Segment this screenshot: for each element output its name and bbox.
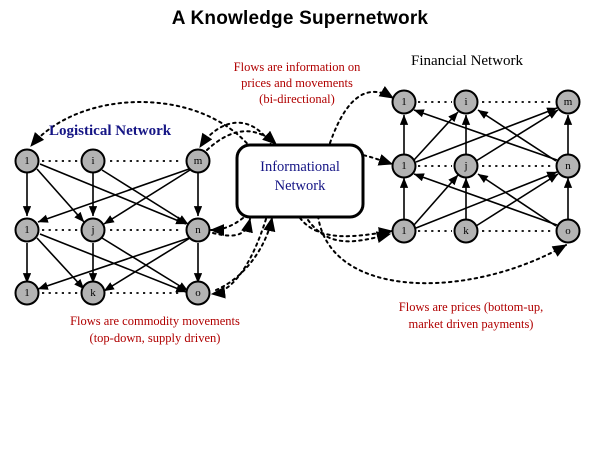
node-financial-2-1[interactable]: 1 xyxy=(393,155,416,178)
node-label: 1 xyxy=(24,155,30,167)
node-label: n xyxy=(565,160,571,172)
node-label: m xyxy=(564,96,573,108)
node-label: k xyxy=(463,225,469,237)
node-logistical-3-o[interactable]: o xyxy=(187,282,210,305)
financial-network-links xyxy=(404,108,568,228)
node-logistical-1-1[interactable]: 1 xyxy=(16,150,39,173)
financial-annotation-line2: market driven payments) xyxy=(360,317,582,332)
logistical-network-heading: Logistical Network xyxy=(49,123,171,140)
node-label: n xyxy=(195,224,201,236)
financial-ellipsis-row-links xyxy=(418,102,552,231)
informational-annotation-line1: Flows are information on xyxy=(215,60,379,75)
logistical-ellipsis-row-links xyxy=(42,161,182,293)
node-logistical-1-m[interactable]: m xyxy=(187,150,210,173)
node-label: i xyxy=(91,155,94,167)
node-logistical-2-n[interactable]: n xyxy=(187,219,210,242)
node-logistical-2-j[interactable]: j xyxy=(82,219,105,242)
node-financial-3-1[interactable]: 1 xyxy=(393,220,416,243)
node-label: 1 xyxy=(24,287,30,299)
node-financial-1-m[interactable]: m xyxy=(557,91,580,114)
node-financial-3-o[interactable]: o xyxy=(557,220,580,243)
informational-annotation-line2: prices and movements xyxy=(215,76,379,91)
node-logistical-3-k[interactable]: k xyxy=(82,282,105,305)
financial-network-heading: Financial Network xyxy=(411,53,523,70)
node-financial-3-k[interactable]: k xyxy=(455,220,478,243)
logistical-network-links xyxy=(27,164,198,292)
node-logistical-1-i[interactable]: i xyxy=(82,150,105,173)
node-logistical-2-1[interactable]: 1 xyxy=(16,219,39,242)
node-label: 1 xyxy=(401,160,407,172)
node-financial-2-j[interactable]: j xyxy=(455,155,478,178)
node-label: o xyxy=(565,225,571,237)
node-logistical-3-1[interactable]: 1 xyxy=(16,282,39,305)
node-label: i xyxy=(464,96,467,108)
node-label: k xyxy=(90,287,96,299)
node-label: j xyxy=(90,224,94,236)
node-financial-1-i[interactable]: i xyxy=(455,91,478,114)
node-financial-2-n[interactable]: n xyxy=(557,155,580,178)
informational-annotation-line3: (bi-directional) xyxy=(215,92,379,107)
logistical-annotation-line2: (top-down, supply driven) xyxy=(20,331,290,346)
node-label: 1 xyxy=(24,224,30,236)
diagram-canvas: A Knowledge Supernetwork xyxy=(0,0,600,450)
node-label: 1 xyxy=(401,96,407,108)
financial-annotation-line1: Flows are prices (bottom-up, xyxy=(360,300,582,315)
informational-network-label-line2: Network xyxy=(240,177,360,195)
node-financial-1-1[interactable]: 1 xyxy=(393,91,416,114)
node-label: o xyxy=(195,287,201,299)
node-label: m xyxy=(194,155,203,167)
informational-network-label-line1: Informational xyxy=(240,158,360,176)
logistical-annotation-line1: Flows are commodity movements xyxy=(20,314,290,329)
node-label: 1 xyxy=(401,225,407,237)
node-label: j xyxy=(463,160,467,172)
